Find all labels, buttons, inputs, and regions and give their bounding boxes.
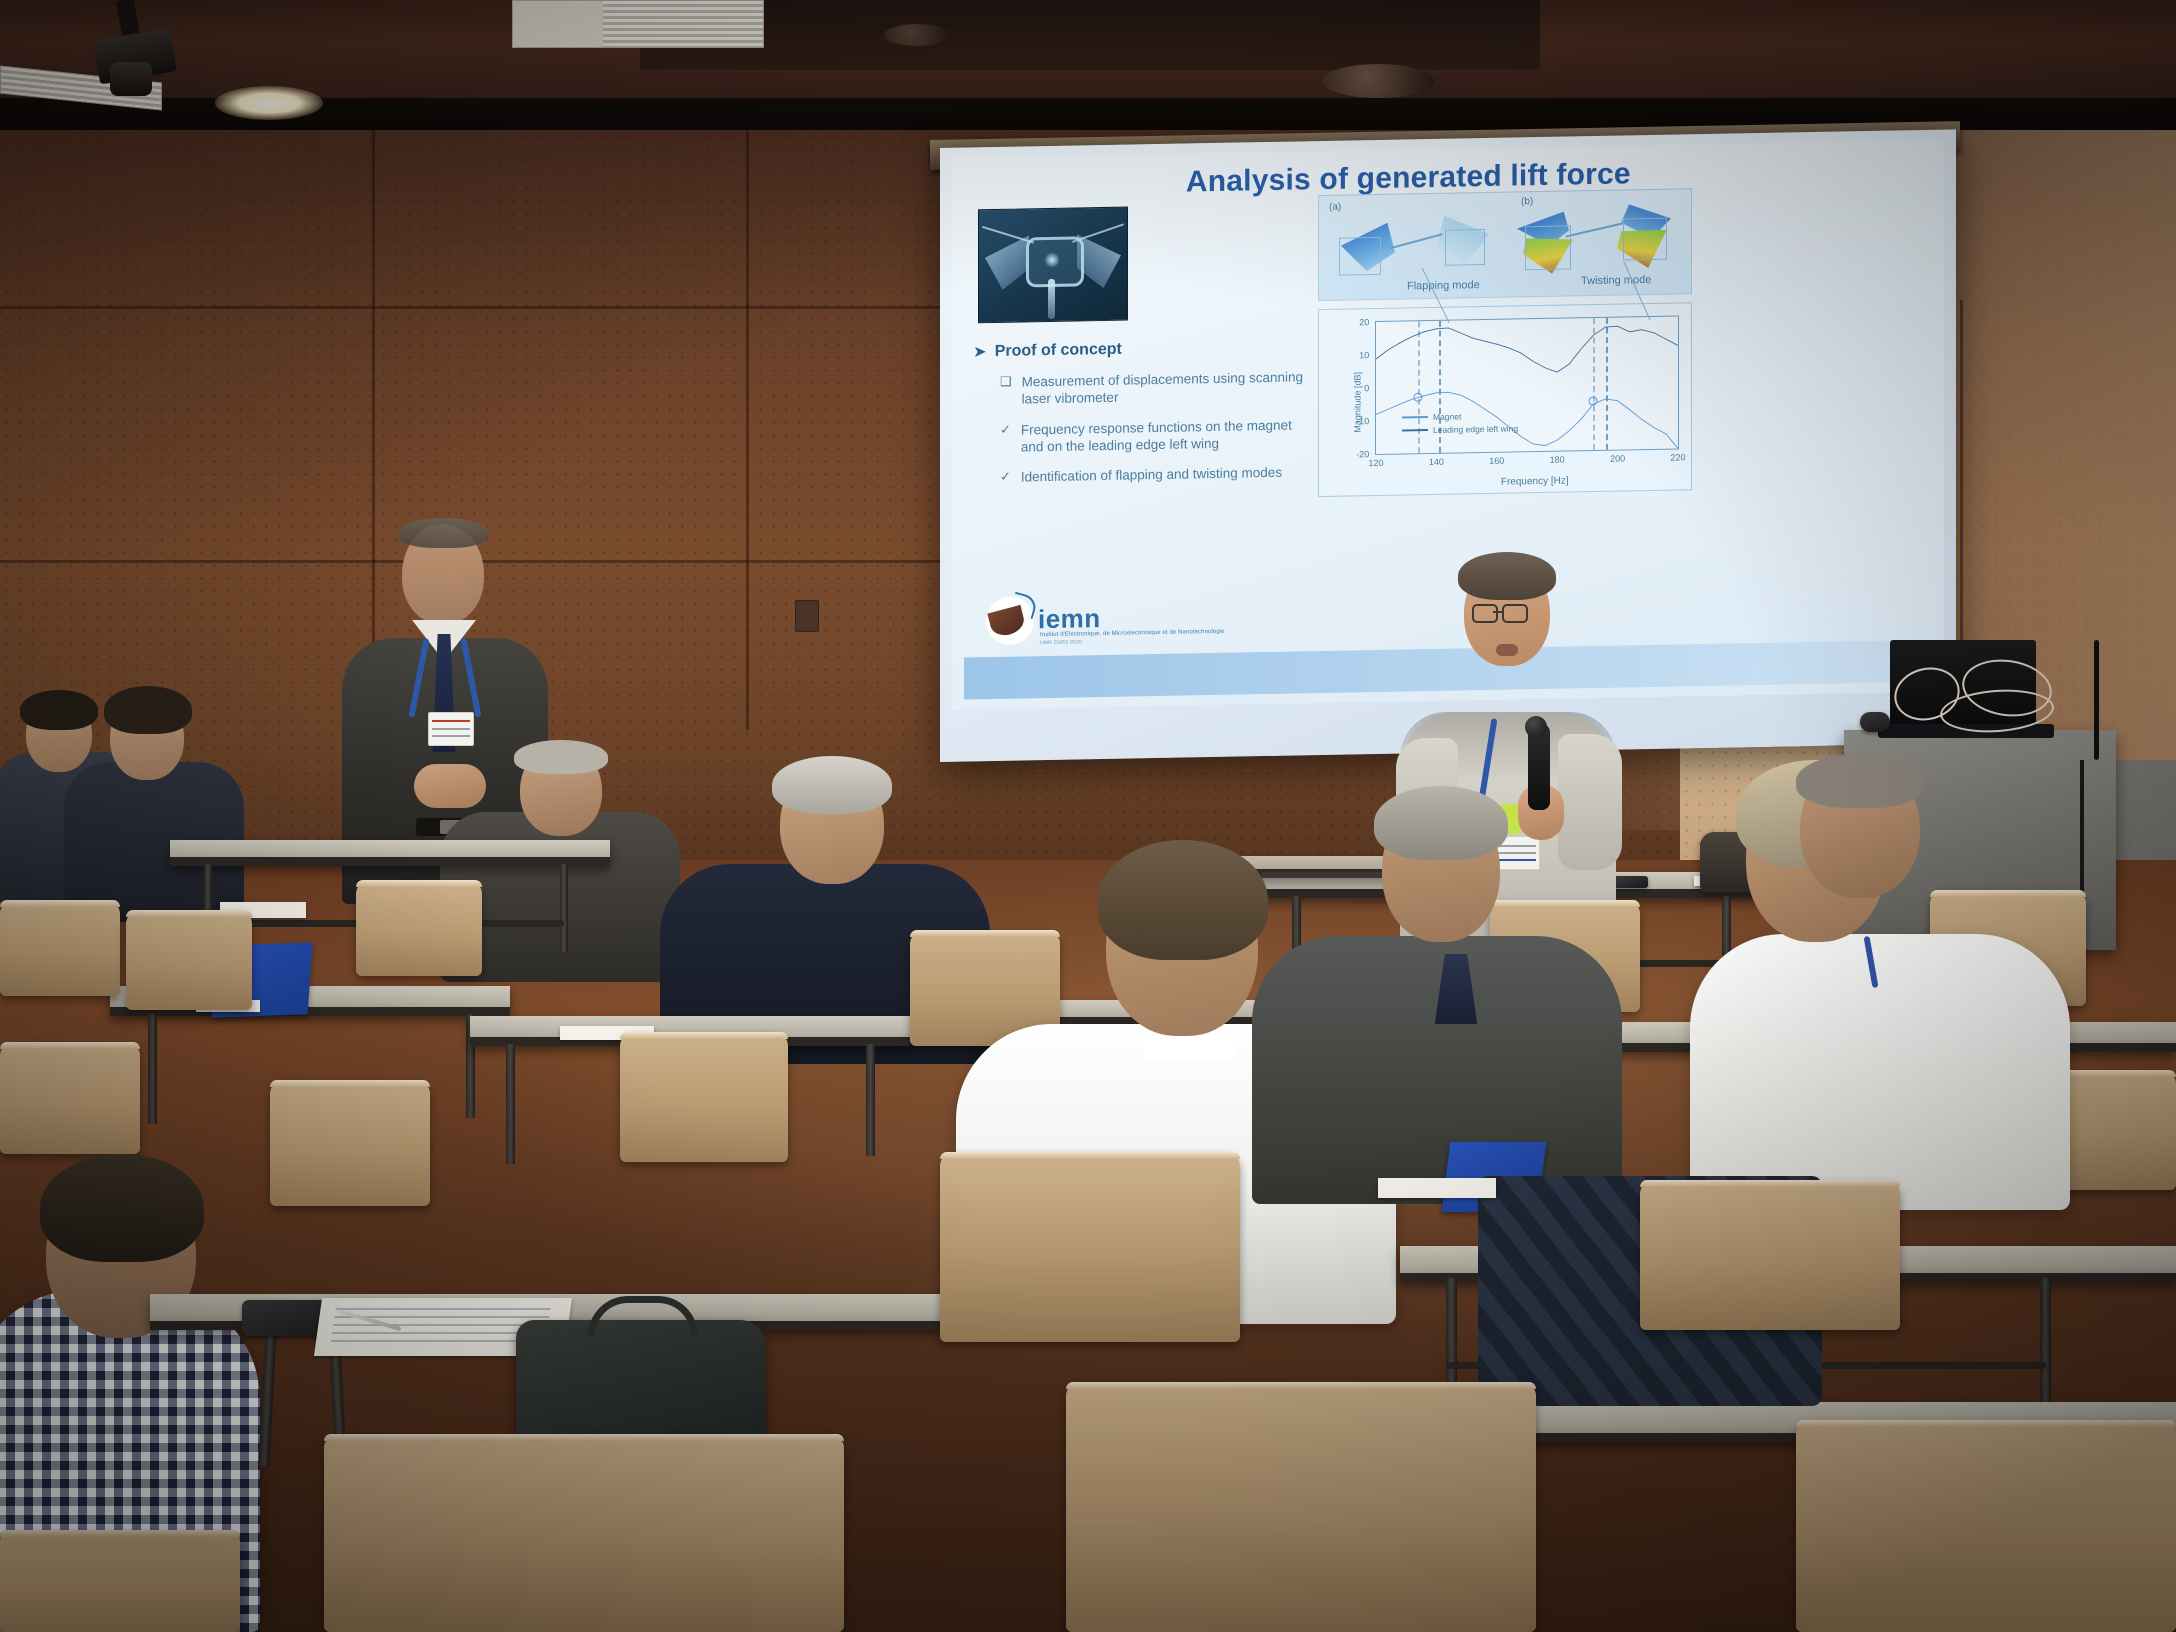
audience-member-grey-suit <box>1252 786 1622 1206</box>
frequency-response-chart: (c) Magnitude [dB] Frequency [Hz] 20 10 … <box>1318 302 1692 497</box>
bullet-level2: ❑ Measurement of displacements using sca… <box>1000 368 1304 408</box>
logo-subtitle-secondary: UMR CNRS 8520 <box>1040 639 1082 646</box>
bullet-text: Frequency response functions on the magn… <box>1021 416 1304 456</box>
legend-label-magnet: Magnet <box>1433 410 1461 424</box>
ceiling-downlight <box>215 86 323 120</box>
projector-lens <box>110 62 152 96</box>
ceiling-speaker <box>1322 64 1434 98</box>
iemn-logo: iemn Institut d'Electronique, de Microel… <box>986 589 1186 651</box>
bullet-text: Proof of concept <box>995 341 1122 361</box>
presenter-glasses <box>1472 604 1542 622</box>
mouse <box>1860 712 1890 732</box>
chair <box>324 1434 844 1632</box>
desk-leg <box>2040 1278 2051 1418</box>
twisting-mode-label: Twisting mode <box>1581 274 1651 287</box>
desk-leg <box>148 1014 157 1124</box>
presenter-hair <box>1458 552 1556 600</box>
slide-bullet-list: ➤ Proof of concept ❑ Measurement of disp… <box>974 337 1304 499</box>
chart-plot-area: 20 10 0 -10 -20 120 140 160 180 200 220 <box>1375 315 1679 455</box>
chart-ytick: -10 <box>1356 416 1369 426</box>
wall-seam <box>0 306 940 309</box>
desk <box>170 840 610 866</box>
chair <box>1796 1420 2176 1632</box>
bullet-text: Identification of flapping and twisting … <box>1021 464 1282 486</box>
ceiling-speaker <box>884 24 950 46</box>
chart-ytick: 10 <box>1359 350 1369 360</box>
audience-member <box>1780 754 1960 934</box>
chart-legend: Magnet Leading edge left wing <box>1402 409 1518 437</box>
bullet-text: Measurement of displacements using scann… <box>1022 368 1304 408</box>
chart-ytick: -20 <box>1356 449 1369 459</box>
wall-cable <box>2094 640 2099 760</box>
flapping-mode-wings <box>1333 209 1499 278</box>
square-bullet-icon: ❑ <box>1000 374 1012 390</box>
chair <box>126 910 252 1010</box>
audience-member <box>64 686 244 916</box>
moderator-hair <box>398 518 488 548</box>
twisting-mode-wings <box>1511 201 1683 276</box>
chair <box>1640 1180 1900 1330</box>
legend-label-leading-edge: Leading edge left wing <box>1433 422 1518 437</box>
chair <box>270 1080 430 1206</box>
bullet-level2: ✓ Identification of flapping and twistin… <box>1000 463 1304 486</box>
chair <box>940 1152 1240 1342</box>
legend-swatch-magnet <box>1402 416 1428 418</box>
bullet-level2: ✓ Frequency response functions on the ma… <box>1000 416 1304 456</box>
chart-xtick: 180 <box>1550 455 1565 465</box>
desk-leg <box>866 1044 875 1156</box>
chart-xtick: 160 <box>1489 456 1504 466</box>
chair <box>0 900 120 996</box>
mode-shape-figures: (a) (b) Flapping mode <box>1318 188 1692 301</box>
legend-swatch-leading-edge <box>1402 429 1428 431</box>
chart-xtick: 220 <box>1670 452 1685 462</box>
chart-series-leading-edge-left-wing <box>1376 324 1678 376</box>
chart-xtick: 120 <box>1368 458 1383 468</box>
wall-socket <box>795 600 819 632</box>
chart-xtick: 140 <box>1429 457 1444 467</box>
chair <box>356 880 482 976</box>
arrow-bullet-icon: ➤ <box>974 343 986 360</box>
chair <box>0 1042 140 1154</box>
chair <box>1066 1382 1536 1632</box>
hair <box>1098 840 1268 960</box>
chart-ytick: 20 <box>1359 317 1369 327</box>
check-bullet-icon: ✓ <box>1000 469 1011 485</box>
chart-ytick: 0 <box>1364 383 1369 393</box>
ceiling-panel-strip <box>640 0 1540 70</box>
paper-sheet <box>1378 1178 1496 1198</box>
device-photograph <box>978 207 1128 324</box>
bullet-level1: ➤ Proof of concept <box>974 337 1304 361</box>
chair <box>0 1530 240 1632</box>
desk-leg <box>560 864 568 952</box>
wall-seam <box>746 130 749 730</box>
flapping-mode-label: Flapping mode <box>1407 279 1480 292</box>
chart-xtick: 200 <box>1610 453 1625 463</box>
chair <box>620 1032 788 1162</box>
lecture-hall-photo: Analysis of generated lift force ➤ Proof… <box>0 0 2176 1632</box>
check-bullet-icon: ✓ <box>1000 421 1011 437</box>
desk-leg <box>506 1044 515 1164</box>
air-vent <box>512 0 764 48</box>
presenter-mouth <box>1496 644 1518 656</box>
chart-x-axis-label: Frequency [Hz] <box>1501 475 1569 487</box>
shirt-collar <box>1144 1036 1234 1062</box>
